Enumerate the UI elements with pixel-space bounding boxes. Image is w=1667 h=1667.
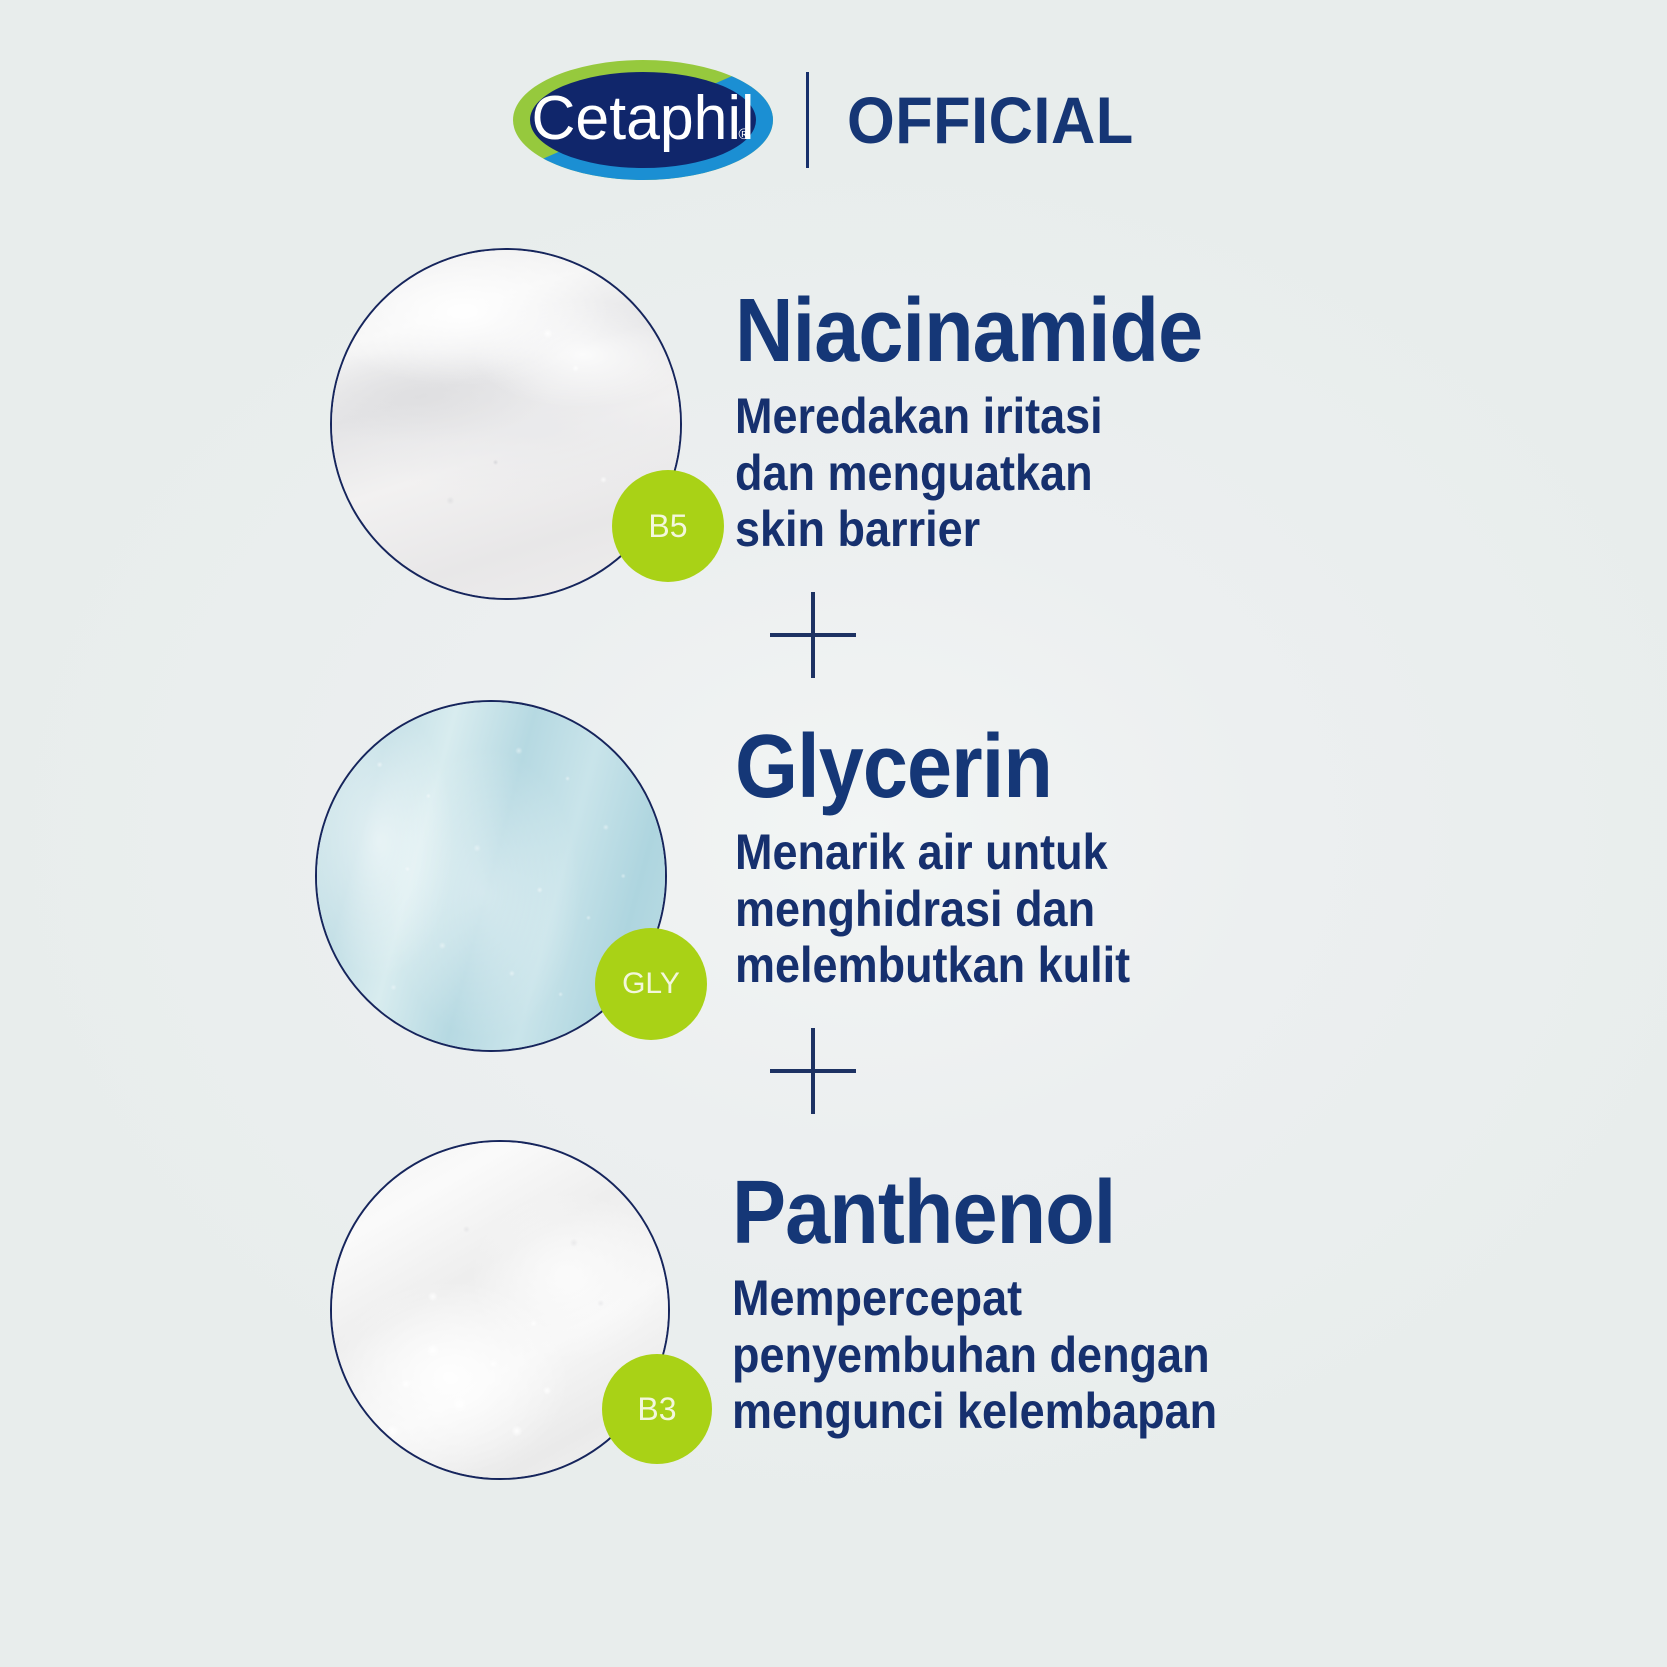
header-divider — [806, 72, 809, 168]
badge-b5: B5 — [612, 470, 724, 582]
ingredient-description-glycerin: Menarik air untuk menghidrasi dan melemb… — [735, 824, 1130, 994]
ingredient-title-panthenol: Panthenol — [732, 1168, 1217, 1258]
ingredient-title-glycerin: Glycerin — [735, 722, 1130, 812]
text-column-panthenol: Panthenol Mempercepat penyembuhan dengan… — [732, 1140, 1271, 1440]
text-column-glycerin: Glycerin Menarik air untuk menghidrasi d… — [735, 700, 1174, 994]
text-column-niacinamide: Niacinamide Meredakan iritasi dan mengua… — [735, 248, 1254, 558]
ingredient-description-niacinamide: Meredakan iritasi dan menguatkan skin ba… — [735, 388, 1202, 558]
badge-b5-label: B5 — [648, 508, 687, 545]
swatch-column: B3 — [330, 1140, 670, 1480]
ingredient-section-niacinamide: B5 Niacinamide Meredakan iritasi dan men… — [330, 248, 1254, 600]
cetaphil-logo: Cetaphil ® — [512, 59, 774, 181]
description-line: mengunci kelembapan — [732, 1383, 1217, 1440]
ingredient-title-niacinamide: Niacinamide — [735, 286, 1202, 376]
description-line: Mempercepat — [732, 1270, 1217, 1327]
plus-icon — [770, 592, 856, 678]
badge-gly-label: GLY — [622, 967, 680, 1001]
description-line: skin barrier — [735, 501, 1202, 558]
description-line: Meredakan iritasi — [735, 388, 1202, 445]
ingredient-infographic-page: Cetaphil ® OFFICIAL B5 Niacinamide Mered… — [0, 0, 1667, 1667]
brand-header: Cetaphil ® OFFICIAL — [0, 56, 1667, 184]
description-line: Menarik air untuk — [735, 824, 1130, 881]
svg-text:®: ® — [738, 126, 749, 143]
ingredient-description-panthenol: Mempercepat penyembuhan dengan mengunci … — [732, 1270, 1217, 1440]
ingredient-section-glycerin: GLY Glycerin Menarik air untuk menghidra… — [315, 700, 1174, 1052]
svg-text:Cetaphil: Cetaphil — [531, 83, 754, 153]
description-line: penyembuhan dengan — [732, 1327, 1217, 1384]
swatch-column: GLY — [315, 700, 667, 1052]
ingredient-section-panthenol: B3 Panthenol Mempercepat penyembuhan den… — [330, 1140, 1271, 1480]
badge-b3: B3 — [602, 1354, 712, 1464]
plus-icon — [770, 1028, 856, 1114]
badge-b3-label: B3 — [637, 1391, 676, 1428]
cetaphil-logo-icon: Cetaphil ® — [512, 59, 774, 181]
description-line: dan menguatkan — [735, 445, 1202, 502]
description-line: melembutkan kulit — [735, 937, 1130, 994]
official-label: OFFICIAL — [847, 82, 1134, 158]
badge-gly: GLY — [595, 928, 707, 1040]
description-line: menghidrasi dan — [735, 881, 1130, 938]
swatch-column: B5 — [330, 248, 682, 600]
